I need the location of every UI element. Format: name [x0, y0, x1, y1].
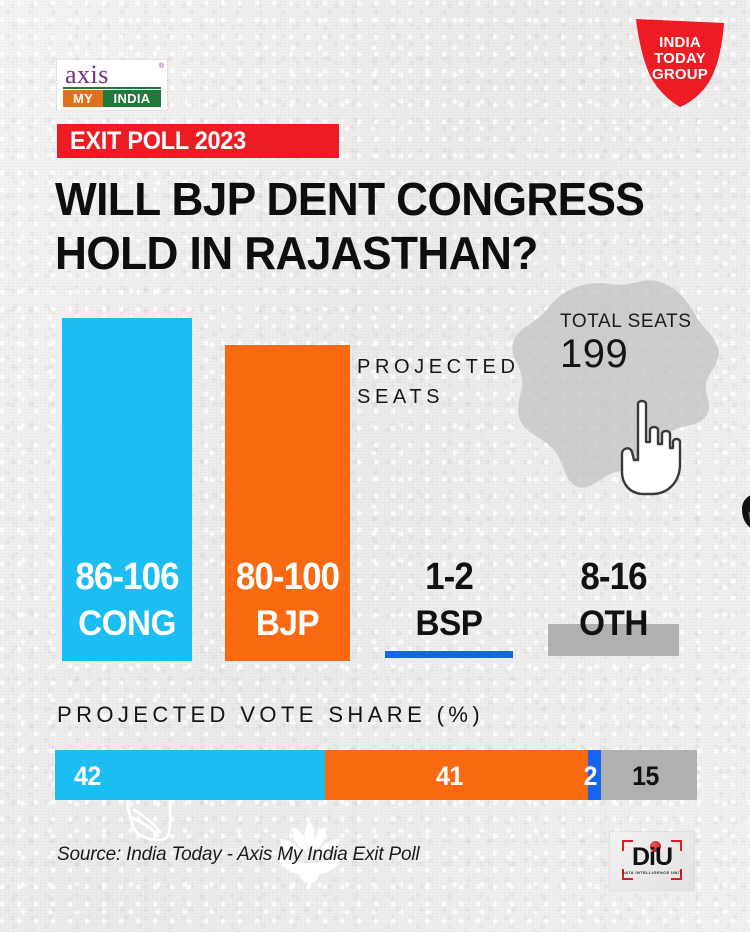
bar-bsp: [385, 651, 513, 658]
vote-share-value-cong: 42: [74, 750, 101, 800]
party-label-bsp: BSP: [388, 604, 510, 644]
pointing-finger-icon: [612, 398, 684, 498]
diu-subtitle: DATA INTELLIGENCE UNIT: [610, 870, 694, 875]
exit-poll-banner-label: EXIT POLL 2023: [70, 124, 246, 158]
itg-line-today: TODAY: [632, 51, 728, 67]
projected-seats-label: PROJECTED SEATS: [357, 352, 557, 412]
party-label-cong: CONG: [65, 604, 189, 644]
seats-value-cong: 86-106: [67, 556, 187, 598]
infographic-page: axis ® MY INDIA INDIA TODAY GROUP EXIT P…: [0, 0, 750, 932]
itg-text: INDIA TODAY GROUP: [632, 35, 728, 83]
total-seats-value: 199: [560, 332, 680, 376]
axis-logo-divider: [63, 87, 161, 89]
vote-share-segment-oth: 15: [601, 750, 697, 800]
vote-share-segment-cong: 42: [55, 750, 325, 800]
projected-seats-line-1: PROJECTED: [357, 352, 557, 382]
axis-my-india-logo: axis ® MY INDIA: [57, 60, 167, 110]
vote-share-title: PROJECTED VOTE SHARE (%): [57, 702, 484, 728]
seats-value-bsp: 1-2: [390, 556, 508, 598]
total-seats-label: TOTAL SEATS: [560, 311, 740, 333]
exit-poll-banner: EXIT POLL 2023: [57, 124, 339, 158]
vote-share-value-oth: 15: [632, 750, 659, 800]
page-title: WILL BJP DENT CONGRESS HOLD IN RAJASTHAN…: [55, 172, 689, 280]
itg-line-india: INDIA: [632, 35, 728, 51]
vote-share-segment-bjp: 41: [325, 750, 588, 800]
india-today-group-logo: INDIA TODAY GROUP: [632, 17, 728, 109]
projected-seats-line-2: SEATS: [357, 382, 557, 412]
diu-logo: DiU DATA INTELLIGENCE UNIT: [610, 832, 694, 890]
axis-logo-my: MY: [63, 90, 103, 107]
itg-line-group: GROUP: [632, 67, 728, 83]
diu-wordmark: DiU: [610, 844, 694, 870]
axis-logo-india: INDIA: [103, 90, 161, 107]
vote-share-value-bsp: 2: [583, 750, 596, 800]
axis-wordmark: axis: [65, 61, 159, 89]
vote-share-segment-bsp: 2: [588, 750, 601, 800]
registered-trademark-icon: ®: [159, 63, 164, 70]
vote-share-value-bjp: 41: [436, 750, 463, 800]
headline-line-1: WILL BJP DENT CONGRESS: [55, 172, 689, 226]
person-icon: [584, 488, 750, 552]
party-label-bjp: BJP: [228, 604, 347, 644]
source-text: Source: India Today - Axis My India Exit…: [57, 844, 419, 866]
party-label-oth: OTH: [551, 604, 675, 644]
vote-share-bar: 42 41 2 15: [55, 750, 697, 800]
seats-value-oth: 8-16: [553, 556, 674, 598]
seats-value-bjp: 80-100: [230, 556, 345, 598]
